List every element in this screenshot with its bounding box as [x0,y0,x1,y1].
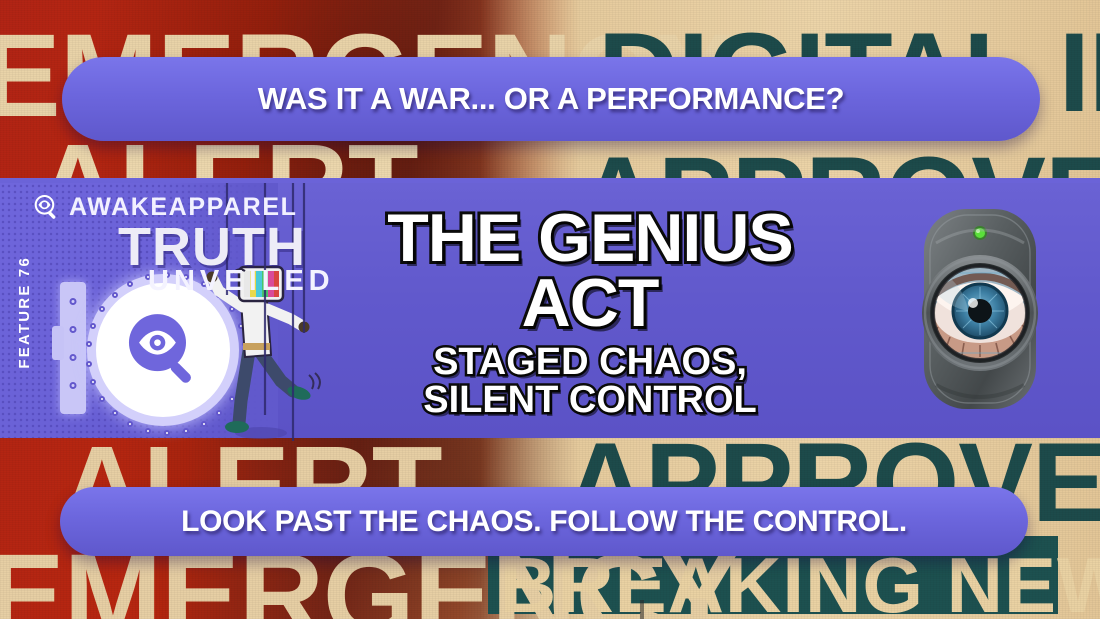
top-banner-text: WAS IT A WAR... OR A PERFORMANCE? [258,81,845,117]
security-camera-eye-icon [916,203,1044,415]
feature-number-text: FEATURE 76 [16,256,33,369]
headline-sub-line-1: STAGED CHAOS, [433,344,747,381]
headline-block: THE GENIUS ACT STAGED CHAOS, SILENT CONT… [300,190,880,435]
top-banner-pill[interactable]: WAS IT A WAR... OR A PERFORMANCE? [62,57,1040,141]
headline-line-2: ACT [522,271,659,336]
vault-hinge-block-icon [52,326,64,360]
eye-magnifier-icon [33,194,60,221]
headline-sub-line-2: SILENT CONTROL [423,382,757,419]
bottom-banner-pill[interactable]: LOOK PAST THE CHAOS. FOLLOW THE CONTROL. [60,487,1028,556]
eye-magnifier-icon [117,304,209,396]
feature-number-label: FEATURE 76 [4,185,44,440]
promo-graphic-stage: EMERGENCY ALERT ALERT EMERGENCY DIGITAL … [0,0,1100,619]
bottom-banner-text: LOOK PAST THE CHAOS. FOLLOW THE CONTROL. [181,505,907,539]
headline-line-1: THE GENIUS [387,206,793,271]
